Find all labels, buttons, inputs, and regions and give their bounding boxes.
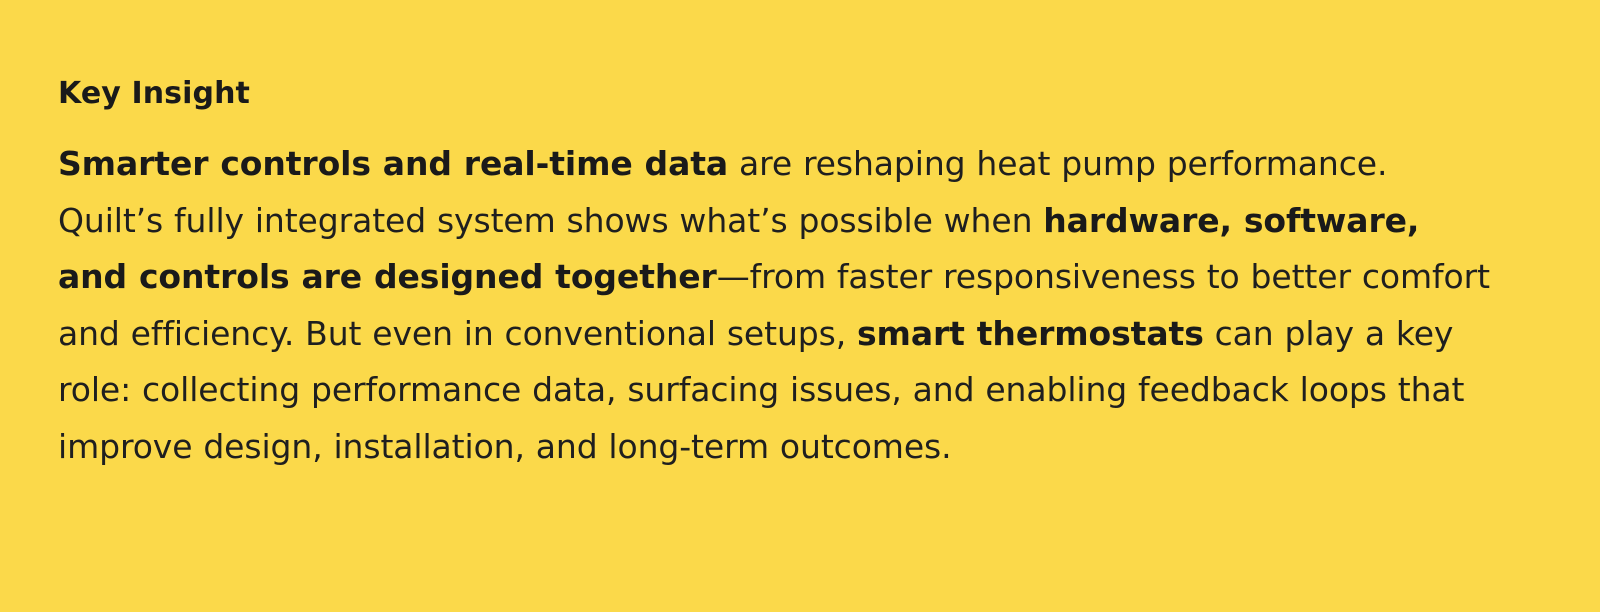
body-emphasis-run: Smarter controls and real-time data [58,144,728,183]
callout-heading: Key Insight [58,74,1540,114]
callout-body-text: Smarter controls and real-time data are … [58,136,1498,475]
key-insight-callout: Key Insight Smarter controls and real-ti… [0,0,1600,612]
body-emphasis-run: smart thermostats [857,314,1204,353]
